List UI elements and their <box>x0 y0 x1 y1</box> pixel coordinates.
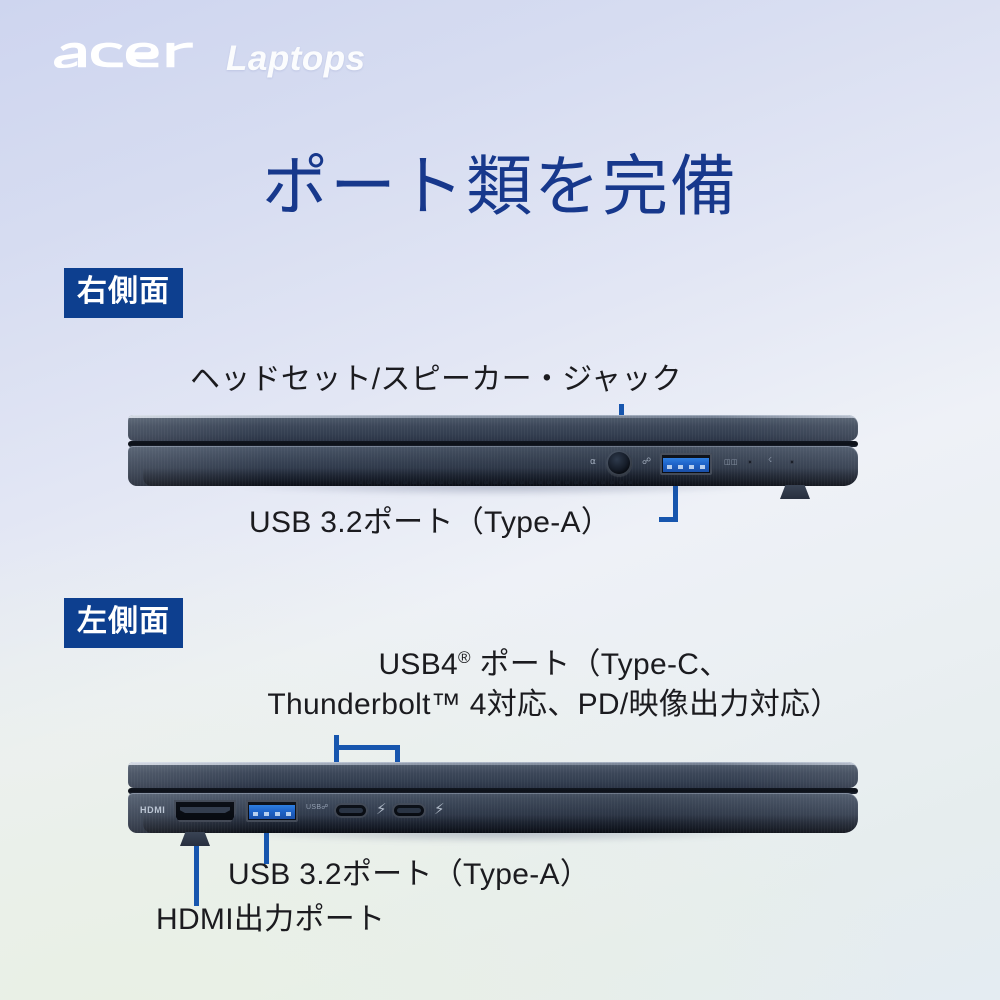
headset-icon: ⍺ <box>590 457 596 466</box>
brand-header: Laptops <box>54 34 366 83</box>
callout-hdmi-out: HDMI出力ポート <box>156 900 385 940</box>
usb4-label-line1: USB4 <box>378 648 458 681</box>
laptop-right-side-view: ⍺ ☍ ◫◫ ☇ <box>128 415 858 487</box>
usb-a-blue-insert <box>249 805 295 819</box>
lid-highlight <box>128 762 858 765</box>
usb-a-port <box>246 800 298 822</box>
usb-ss-icon: USB☍ <box>306 804 329 811</box>
section-badge-left-side: 左側面 <box>64 598 183 648</box>
battery-led <box>790 460 794 464</box>
headset-speaker-jack <box>606 450 632 476</box>
brand-subtitle: Laptops <box>226 41 366 76</box>
usb-c-port-2 <box>392 803 426 818</box>
usb-trident-icon: ☍ <box>642 457 651 466</box>
charging-icon: ☇ <box>768 457 772 464</box>
laptop-base <box>128 793 858 833</box>
hdmi-port <box>174 800 236 822</box>
product-feature-graphic: Laptops ポート類を完備 右側面 ヘッドセット/スピーカー・ジャック US… <box>0 0 1000 1000</box>
callout-usb-a-right: USB 3.2ポート（Type-A） <box>249 503 611 543</box>
laptop-base <box>128 446 858 486</box>
thunderbolt-icon-2: ⚡ <box>434 802 445 817</box>
battery-indicator-icon: ◫◫ <box>724 459 738 466</box>
hdmi-label: HDMI <box>140 805 165 815</box>
usb-a-blue-insert <box>663 458 709 472</box>
usb4-label-line1b: ポート（Type-C、 <box>471 648 730 681</box>
lid-highlight <box>128 415 858 418</box>
usb4-label-line2: Thunderbolt™ 4対応、PD/映像出力対応） <box>224 685 884 725</box>
page-title: ポート類を完備 <box>0 152 1000 221</box>
laptop-left-side-view: HDMI USB☍ ⚡ ⚡ <box>128 762 858 834</box>
thunderbolt-icon-1: ⚡ <box>376 802 387 817</box>
leader-line-usb-a-right-horizontal <box>659 517 678 522</box>
power-led <box>748 460 752 464</box>
callout-headset-jack: ヘッドセット/スピーカー・ジャック <box>190 360 682 400</box>
laptop-lid <box>128 762 858 788</box>
usb-a-port <box>660 453 712 475</box>
acer-wordmark-logo <box>54 34 204 83</box>
usb-c-port-1 <box>334 803 368 818</box>
cooling-vents <box>358 481 638 484</box>
laptop-lid <box>128 415 858 441</box>
registered-mark: ® <box>458 648 471 667</box>
leader-line-usb4-stem <box>334 735 339 745</box>
callout-usb-a-left: USB 3.2ポート（Type-A） <box>228 855 590 895</box>
callout-usb4-thunderbolt: USB4® ポート（Type-C、 Thunderbolt™ 4対応、PD/映像… <box>224 645 884 724</box>
section-badge-right-side: 右側面 <box>64 268 183 318</box>
leader-line-usb4-crossbar <box>334 745 400 750</box>
